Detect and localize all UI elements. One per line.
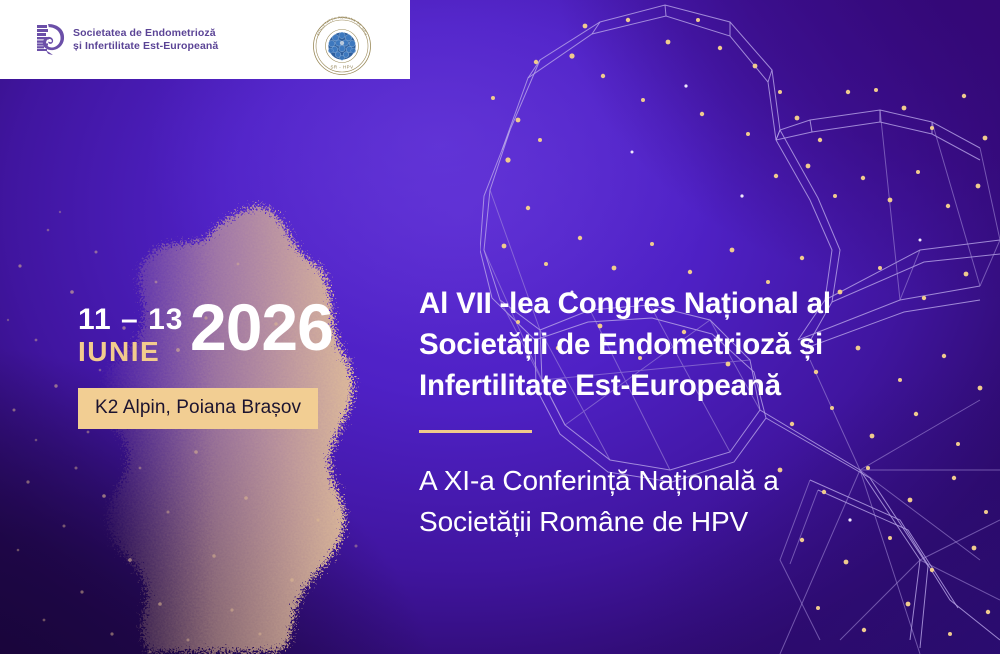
conference-title: A XI-a Conferință Națională a Societății… — [419, 460, 889, 542]
society-logo: Societatea de Endometrioză și Infertilit… — [35, 24, 218, 55]
spiral-logo-icon — [35, 24, 65, 55]
hpv-seal-label: SR - HPV — [330, 65, 353, 70]
society-logo-line1: Societatea de Endometrioză — [73, 27, 216, 39]
congress-title-line3: Infertilitate Est-Europeană — [419, 369, 781, 402]
society-logo-text: Societatea de Endometrioză și Infertilit… — [73, 27, 218, 53]
event-date-row: 11 – 13 IUNIE 2026 — [78, 300, 348, 378]
virus-capsid — [328, 32, 355, 60]
event-date-block: 11 – 13 IUNIE 2026 K2 Alpin, Poiana Braș… — [78, 300, 348, 378]
event-venue-badge: K2 Alpin, Poiana Brașov — [78, 388, 318, 429]
society-logo-line2: și Infertilitate Est-Europeană — [73, 40, 218, 52]
congress-title-line1: Al VII -lea Congres Național al — [419, 287, 831, 320]
event-month: IUNIE — [78, 336, 160, 368]
event-year: 2026 — [190, 294, 333, 360]
title-divider-rule — [419, 430, 532, 433]
conference-title-line2: Societății Române de HPV — [419, 506, 748, 537]
congress-title: Al VII -lea Congres Național al Societăț… — [419, 283, 889, 406]
congress-title-line2: Societății de Endometrioză și — [419, 328, 823, 361]
conference-title-line1: A XI-a Conferință Națională a — [419, 465, 779, 496]
event-date-range: 11 – 13 — [78, 303, 183, 337]
header-logo-band: Societatea de Endometrioză și Infertilit… — [0, 0, 410, 79]
event-titles: Al VII -lea Congres Național al Societăț… — [419, 283, 889, 542]
event-poster: Societatea de Endometrioză și Infertilit… — [0, 0, 1000, 654]
hpv-seal-icon: SOCIETATEA ROMANA DE HPV SR - — [312, 16, 372, 76]
